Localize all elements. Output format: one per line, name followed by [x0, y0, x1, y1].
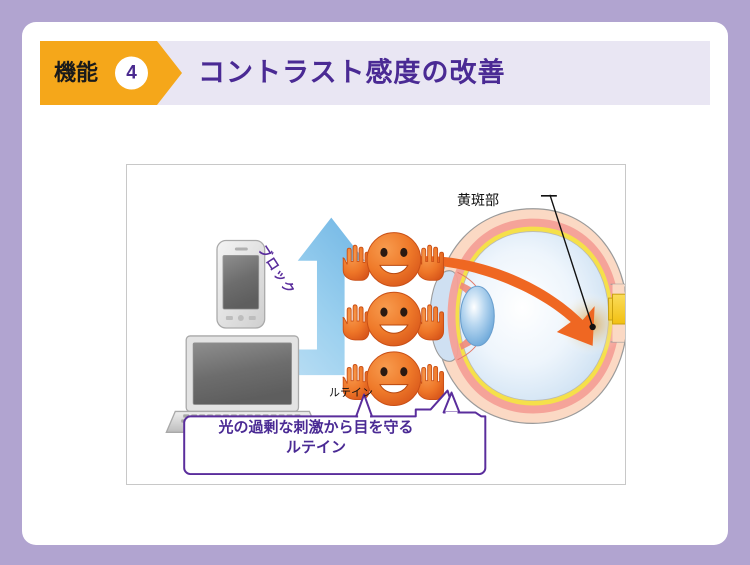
- feature-badge-label: 機能: [54, 62, 98, 84]
- feature-badge-number: 4: [126, 64, 137, 83]
- callout-text: 光の過剰な刺激から目を守る ルテイン: [186, 418, 446, 459]
- eye-anatomy-diagram: [430, 209, 625, 424]
- page-title: コントラスト感度の改善: [198, 60, 505, 87]
- feature-number-badge: 機能 4: [40, 41, 182, 105]
- callout-line-2: ルテイン: [286, 439, 346, 456]
- section-header-bar: 機能 4 コントラスト感度の改善: [40, 41, 710, 105]
- callout-line-1: 光の過剰な刺激から目を守る: [218, 419, 413, 436]
- content-card: 機能 4 コントラスト感度の改善: [22, 22, 728, 545]
- illustration-panel: 黄斑部 ルテイン ブロック 光の過剰な刺激から目を守る ルテイン: [126, 164, 626, 485]
- feature-badge-circle: 4: [115, 57, 148, 90]
- label-macula: 黄斑部: [457, 192, 499, 208]
- lutein-character-2: [343, 292, 444, 346]
- label-lutein: ルテイン: [329, 387, 373, 400]
